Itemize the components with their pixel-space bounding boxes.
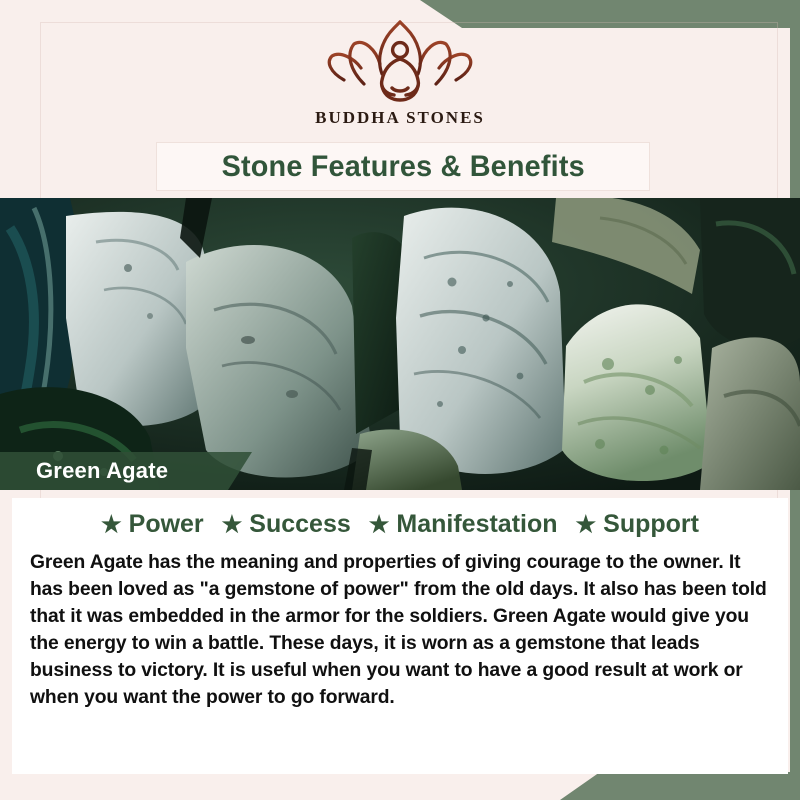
feature-item-support: ★ Support (576, 510, 699, 539)
header: BUDDHA STONES Stone Features & Benefits (0, 0, 800, 200)
star-icon: ★ (101, 513, 122, 536)
brand-name: BUDDHA STONES (315, 108, 485, 128)
feature-item-success: ★ Success (222, 510, 351, 539)
brand-logo: BUDDHA STONES (0, 18, 800, 128)
green-agate-stones-illustration (0, 198, 800, 490)
page-title: Stone Features & Benefits (221, 150, 584, 184)
title-banner: Stone Features & Benefits (157, 143, 649, 190)
feature-label: Manifestation (396, 510, 557, 539)
feature-label: Support (603, 510, 699, 539)
feature-list: ★ Power ★ Success ★ Manifestation ★ Supp… (12, 498, 788, 539)
feature-item-power: ★ Power (101, 510, 204, 539)
content-card: ★ Power ★ Success ★ Manifestation ★ Supp… (12, 498, 788, 774)
feature-item-manifestation: ★ Manifestation (369, 510, 558, 539)
lotus-meditation-icon (320, 18, 480, 104)
stone-name-ribbon: Green Agate (0, 452, 252, 490)
star-icon: ★ (222, 513, 243, 536)
description-text: Green Agate has the meaning and properti… (30, 549, 770, 711)
feature-label: Power (129, 510, 204, 539)
feature-label: Success (249, 510, 350, 539)
stone-photo (0, 198, 800, 490)
star-icon: ★ (369, 513, 390, 536)
star-icon: ★ (576, 513, 597, 536)
stone-name-label: Green Agate (36, 458, 168, 484)
